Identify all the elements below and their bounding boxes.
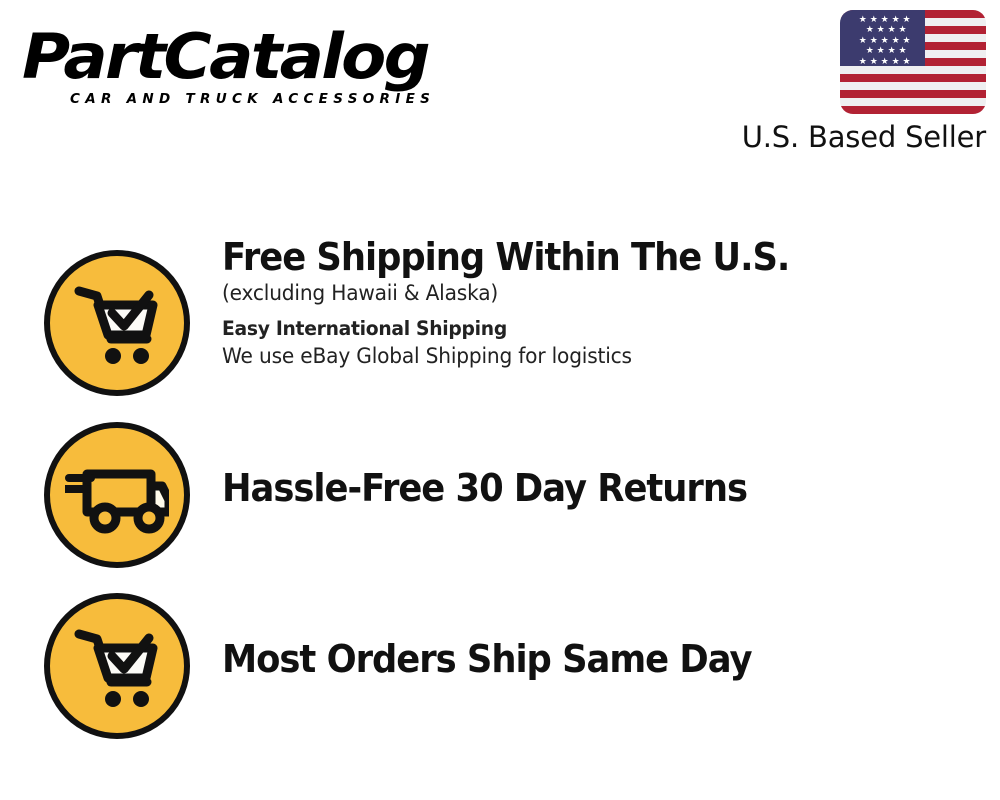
us-flag-icon: ★ ★ ★ ★ ★ ★ ★ ★ ★ ★ ★ ★ ★ ★ ★ ★ ★ ★ ★ ★ … xyxy=(840,10,986,114)
delivery-truck-icon xyxy=(44,422,190,568)
seller-label: U.S. Based Seller xyxy=(714,120,986,154)
brand-logo: PartCatalog CAR AND TRUCK ACCESSORIES xyxy=(22,26,492,107)
us-based-seller-badge: ★ ★ ★ ★ ★ ★ ★ ★ ★ ★ ★ ★ ★ ★ ★ ★ ★ ★ ★ ★ … xyxy=(714,10,986,154)
shopping-cart-check-icon xyxy=(44,593,190,739)
feature-subline-2: Easy International Shipping xyxy=(222,316,959,342)
feature-headline: Hassle-Free 30 Day Returns xyxy=(222,466,936,510)
flag-stars: ★ ★ ★ ★ ★ ★ ★ ★ ★ ★ ★ ★ ★ ★ ★ ★ ★ ★ ★ ★ … xyxy=(840,10,925,66)
feature-subline-3: We use eBay Global Shipping for logistic… xyxy=(222,342,959,370)
shopping-cart-check-icon xyxy=(44,250,190,396)
feature-text-block: Most Orders Ship Same Day xyxy=(222,637,990,681)
logo-tagline: CAR AND TRUCK ACCESSORIES xyxy=(70,91,492,107)
feature-text-block: Hassle-Free 30 Day Returns xyxy=(222,466,990,510)
feature-text-block: Free Shipping Within The U.S. (excluding… xyxy=(222,235,990,370)
feature-subline-1: (excluding Hawaii & Alaska) xyxy=(222,279,959,307)
feature-headline: Most Orders Ship Same Day xyxy=(222,637,936,681)
logo-wordmark: PartCatalog xyxy=(22,26,520,88)
feature-headline: Free Shipping Within The U.S. xyxy=(222,235,936,279)
